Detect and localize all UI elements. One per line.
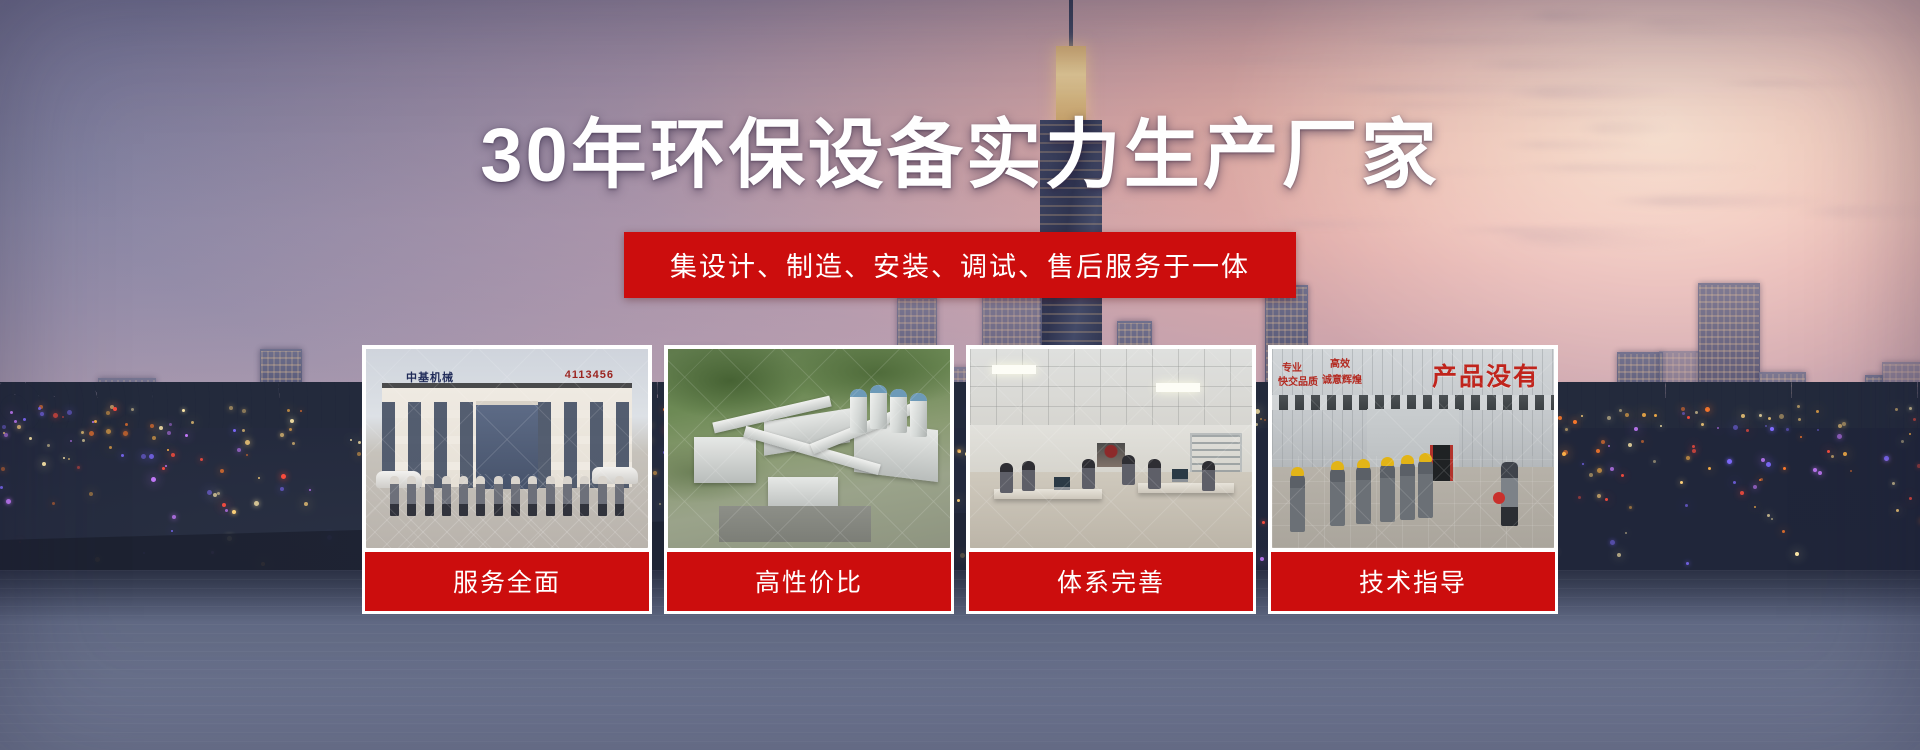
- factory-worker: [1330, 468, 1345, 526]
- card-photo-factory-workers: 产品没有 专业 快交品质 高效 诚意辉煌: [1268, 345, 1558, 552]
- card-caption: 服务全面: [362, 552, 652, 614]
- subtitle-banner: 集设计、制造、安装、调试、售后服务于一体: [624, 232, 1296, 298]
- storage-silo: [870, 385, 887, 429]
- card-caption: 体系完善: [966, 552, 1256, 614]
- office-worker: [1000, 463, 1013, 493]
- monitor: [1172, 469, 1188, 482]
- staff-row: [390, 476, 624, 520]
- factory-worker: [1400, 462, 1415, 520]
- wall-logo: [1097, 443, 1125, 467]
- office-worker: [1022, 461, 1035, 491]
- factory-sign-left-1: 专业: [1282, 363, 1302, 376]
- card-photo-industrial-plant: [664, 345, 954, 552]
- ceiling-light: [1156, 383, 1200, 392]
- feature-card[interactable]: 体系完善: [966, 345, 1256, 614]
- storage-silo: [850, 389, 867, 433]
- monitor: [1054, 477, 1070, 490]
- factory-sign-left-3: 高效: [1330, 359, 1350, 372]
- card-photo-office-building: 中基机械 4113456: [362, 345, 652, 552]
- factory-sign-headline: 产品没有: [1432, 357, 1540, 393]
- card-caption: 高性价比: [664, 552, 954, 614]
- feature-card[interactable]: 高性价比: [664, 345, 954, 614]
- factory-supervisor: [1501, 462, 1518, 526]
- building-phone-text: 4113456: [565, 369, 614, 381]
- office-worker: [1122, 455, 1135, 485]
- feature-card[interactable]: 产品没有 专业 快交品质 高效 诚意辉煌: [1268, 345, 1558, 614]
- office-worker: [1082, 459, 1095, 489]
- factory-window-strip: [1272, 395, 1554, 410]
- feature-card-list: 中基机械 4113456 服务全面: [362, 345, 1558, 614]
- office-worker: [1148, 459, 1161, 489]
- factory-sign-left-2: 快交品质: [1278, 377, 1318, 390]
- card-photo-office-interior: [966, 345, 1256, 552]
- storage-silo: [890, 389, 907, 433]
- page-title: 30年环保设备实力生产厂家: [0, 118, 1920, 194]
- plant-building: [694, 437, 756, 483]
- office-ceiling: [970, 349, 1252, 427]
- banner-content: 30年环保设备实力生产厂家 集设计、制造、安装、调试、售后服务于一体 中基机械 …: [0, 0, 1920, 750]
- plant-yard: [719, 506, 871, 542]
- factory-worker: [1380, 464, 1395, 522]
- factory-worker: [1356, 466, 1371, 524]
- factory-worker: [1290, 474, 1305, 532]
- feature-card[interactable]: 中基机械 4113456 服务全面: [362, 345, 652, 614]
- card-caption: 技术指导: [1268, 552, 1558, 614]
- factory-sign-left-4: 诚意辉煌: [1322, 375, 1362, 388]
- building-sign-text: 中基机械: [406, 369, 454, 385]
- factory-worker: [1418, 460, 1433, 518]
- ceiling-light: [992, 365, 1036, 374]
- office-worker: [1202, 461, 1215, 491]
- storage-silo: [910, 393, 927, 437]
- hero-banner: 30年环保设备实力生产厂家 集设计、制造、安装、调试、售后服务于一体 中基机械 …: [0, 0, 1920, 750]
